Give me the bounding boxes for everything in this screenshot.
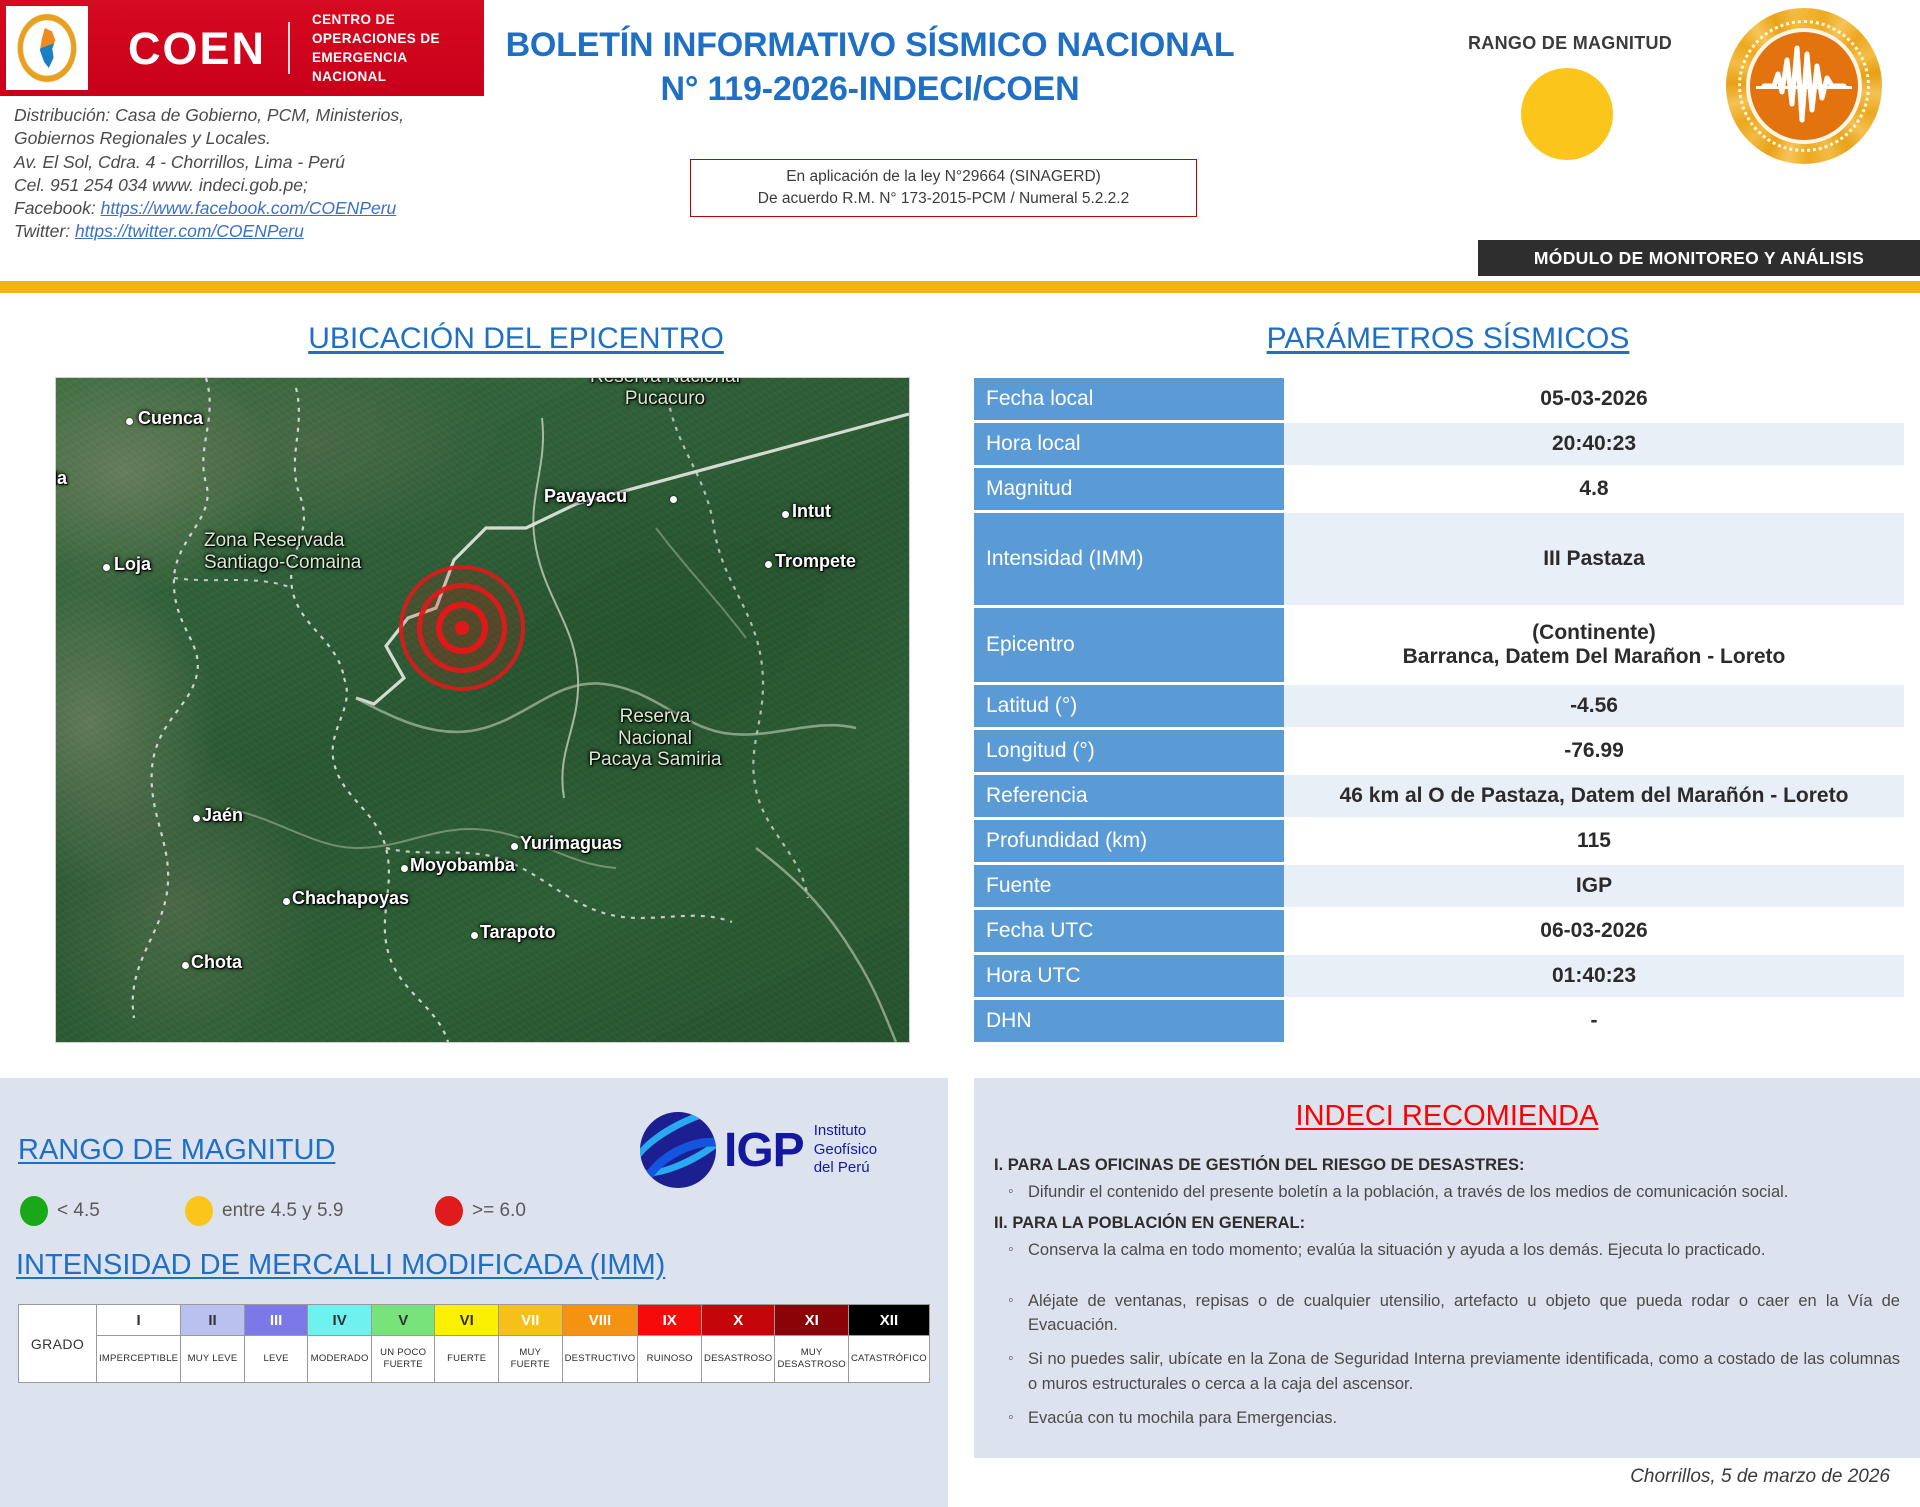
map-label-chachapoyas: Chachapoyas [292, 888, 409, 909]
map-label-trompeteros: Trompete [775, 551, 856, 572]
twitter-line: Twitter: https://twitter.com/COENPeru [14, 220, 484, 243]
mercalli-column-iii: III LEVE [245, 1305, 309, 1382]
header-magnitude-dot [1521, 68, 1613, 160]
param-key: Fecha UTC [974, 910, 1284, 952]
mercalli-name: MUY DESASTROSO [775, 1336, 847, 1382]
legal-notice-box: En aplicación de la ley N°29664 (SINAGER… [690, 159, 1197, 217]
distribution-block: Distribución: Casa de Gobierno, PCM, Min… [14, 104, 484, 244]
param-value: -4.56 [1284, 685, 1904, 727]
seismic-parameters-table: Fecha local 05-03-2026 Hora local 20:40:… [974, 378, 1904, 1045]
mercalli-name: UN POCO FUERTE [372, 1336, 435, 1382]
mercalli-roman: VIII [563, 1305, 638, 1336]
map-dot-tarapoto [471, 932, 478, 939]
table-row: Hora local 20:40:23 [974, 423, 1904, 465]
mercalli-column-ii: II MUY LEVE [181, 1305, 245, 1382]
coen-subtitle: CENTRO DE OPERACIONES DE EMERGENCIA NACI… [312, 10, 484, 87]
recommendations-title: INDECI RECOMIENDA [974, 1100, 1920, 1133]
param-key: Profundidad (km) [974, 820, 1284, 862]
mercalli-roman: V [372, 1305, 435, 1336]
mercalli-name: DESTRUCTIVO [563, 1336, 638, 1382]
list-item: Evacúa con tu mochila para Emergencias. [1028, 1406, 1900, 1431]
mercalli-name: MUY LEVE [181, 1336, 244, 1382]
map-label-zona-line-2: Santiago-Comaina [204, 552, 361, 573]
coen-subtitle-line-1: CENTRO DE [312, 10, 484, 29]
map-dot-jaen [193, 815, 200, 822]
map-label-tarapoto: Tarapoto [480, 922, 556, 943]
epicenter-marker[interactable] [402, 568, 522, 688]
map-dot-pavayacu [670, 496, 677, 503]
epicenter-section-title: UBICACIÓN DEL EPICENTRO [286, 322, 746, 356]
param-value: 06-03-2026 [1284, 910, 1904, 952]
map-dot-moyobamba [401, 865, 408, 872]
facebook-line: Facebook: https://www.facebook.com/COENP… [14, 197, 484, 220]
mercalli-column-i: I IMPERCEPTIBLE [97, 1305, 181, 1382]
param-value: -76.99 [1284, 730, 1904, 772]
map-label-chota: Chota [191, 952, 242, 973]
mercalli-roman: IX [638, 1305, 701, 1336]
mercalli-grade-column: GRADO [19, 1305, 97, 1382]
facebook-link[interactable]: https://www.facebook.com/COENPeru [101, 198, 397, 218]
param-value: 4.8 [1284, 468, 1904, 510]
badge-core [1746, 28, 1862, 144]
map-label-loja: Loja [114, 554, 151, 575]
page-title-line-2: N° 119-2026-INDECI/COEN [500, 68, 1240, 112]
map-label-pacaya-line-2: Nacional [618, 728, 692, 749]
igp-globe-icon [640, 1112, 716, 1188]
param-value: 20:40:23 [1284, 423, 1904, 465]
param-key: Epicentro [974, 608, 1284, 682]
map-label-pacaya-line-1: Reserva [620, 706, 691, 727]
table-row: Latitud (°) -4.56 [974, 685, 1904, 727]
mercalli-column-xii: XII CATASTRÓFICO [849, 1305, 929, 1382]
param-key: Hora local [974, 423, 1284, 465]
map-label-pacaya-samiria: Reserva Nacional Pacaya Samiria [540, 706, 770, 771]
legend-label-mid: entre 4.5 y 5.9 [222, 1200, 343, 1222]
distribution-line-4: Cel. 951 254 034 www. indeci.gob.pe; [14, 174, 484, 197]
mercalli-column-ix: IX RUINOSO [638, 1305, 702, 1382]
seismograph-badge-icon [1726, 8, 1882, 164]
legend-label-high: >= 6.0 [472, 1200, 526, 1222]
map-label-yurimaguas: Yurimaguas [520, 833, 622, 854]
igp-acronym: IGP [724, 1123, 804, 1178]
mercalli-roman: II [181, 1305, 244, 1336]
footer-place-date: Chorrillos, 5 de marzo de 2026 [1630, 1466, 1890, 1488]
mercalli-name: LEVE [245, 1336, 308, 1382]
param-key: Intensidad (IMM) [974, 513, 1284, 605]
magnitude-legend: < 4.5 entre 4.5 y 5.9 >= 6.0 [20, 1196, 580, 1240]
param-value: 05-03-2026 [1284, 378, 1904, 420]
epicenter-center-dot [455, 621, 469, 635]
mercalli-roman: VI [435, 1305, 498, 1336]
table-row: Magnitud 4.8 [974, 468, 1904, 510]
table-row: Epicentro (Continente) Barranca, Datem D… [974, 608, 1904, 682]
twitter-link[interactable]: https://twitter.com/COENPeru [75, 221, 304, 241]
table-row: Fuente IGP [974, 865, 1904, 907]
param-key: Fecha local [974, 378, 1284, 420]
map-dot-loja [103, 564, 110, 571]
param-value-line-1: (Continente) [1403, 621, 1786, 645]
indeci-seal-logo [6, 6, 88, 90]
map-label-moyobamba: Moyobamba [410, 855, 515, 876]
page-title-line-1: BOLETÍN INFORMATIVO SÍSMICO NACIONAL [500, 24, 1240, 68]
map-dot-trompeteros [765, 561, 772, 568]
mercalli-name: CATASTRÓFICO [849, 1336, 929, 1382]
legal-notice-line-1: En aplicación de la ley N°29664 (SINAGER… [786, 166, 1101, 188]
map-label-intuto: Intut [792, 501, 831, 522]
igp-subtitle-line-1: Instituto [814, 1122, 877, 1141]
param-value: 115 [1284, 820, 1904, 862]
table-row: Longitud (°) -76.99 [974, 730, 1904, 772]
mercalli-column-viii: VIII DESTRUCTIVO [563, 1305, 639, 1382]
param-value: 01:40:23 [1284, 955, 1904, 997]
mercalli-roman: XI [775, 1305, 847, 1336]
mercalli-column-v: V UN POCO FUERTE [372, 1305, 436, 1382]
param-value: - [1284, 1000, 1904, 1042]
mercalli-name: FUERTE [435, 1336, 498, 1382]
list-item: Difundir el contenido del presente bolet… [1028, 1180, 1900, 1205]
brand-divider [288, 22, 290, 74]
legend-item-low: < 4.5 [20, 1196, 100, 1226]
recommendations-group2-list: Conserva la calma en todo momento; evalú… [994, 1238, 1900, 1431]
map-label-pacaya-line-3: Pacaya Samiria [588, 749, 721, 770]
twitter-label: Twitter: [14, 221, 70, 241]
map-label-pucacuro: Reserva Nacional Pucacuro [550, 377, 780, 409]
coen-subtitle-line-3: EMERGENCIA NACIONAL [312, 48, 484, 86]
parameters-section-title: PARÁMETROS SÍSMICOS [1248, 322, 1648, 356]
page-header: COEN CENTRO DE OPERACIONES DE EMERGENCIA… [0, 0, 1920, 232]
coen-brand-band: COEN CENTRO DE OPERACIONES DE EMERGENCIA… [0, 0, 484, 96]
mercalli-name: MUY FUERTE [499, 1336, 562, 1382]
module-bar: MÓDULO DE MONITOREO Y ANÁLISIS [1478, 240, 1920, 276]
coen-subtitle-line-2: OPERACIONES DE [312, 29, 484, 48]
mercalli-name: DESASTROSO [702, 1336, 775, 1382]
mercalli-name: MODERADO [308, 1336, 371, 1382]
mercalli-scale-table: GRADO I IMPERCEPTIBLE II MUY LEVE III LE… [18, 1304, 930, 1383]
mercalli-grade-label: GRADO [31, 1336, 84, 1352]
mercalli-name: IMPERCEPTIBLE [97, 1336, 180, 1382]
igp-subtitle: Instituto Geofísico del Perú [814, 1122, 877, 1178]
map-dot-cuenca [126, 418, 133, 425]
badge-dotted-ring [1738, 20, 1870, 152]
coen-wordmark: COEN [128, 26, 266, 71]
mercalli-column-vii: VII MUY FUERTE [499, 1305, 563, 1382]
param-key: DHN [974, 1000, 1284, 1042]
map-dot-intuto [782, 511, 789, 518]
param-value: (Continente) Barranca, Datem Del Marañon… [1284, 608, 1904, 682]
param-value: IGP [1284, 865, 1904, 907]
mercalli-column-xi: XI MUY DESASTROSO [775, 1305, 848, 1382]
map-label-jaen: Jaén [202, 805, 243, 826]
map-label-pucacuro-line-1: Reserva Nacional [590, 377, 740, 387]
legend-dot-yellow-icon [185, 1196, 213, 1226]
peru-seal-icon [15, 11, 79, 85]
map-label-zona-reservada: Zona Reservada Santiago-Comaina [204, 530, 434, 573]
mercalli-name: RUINOSO [638, 1336, 701, 1382]
param-key: Fuente [974, 865, 1284, 907]
map-label-pucacuro-line-2: Pucacuro [625, 388, 705, 409]
page-title: BOLETÍN INFORMATIVO SÍSMICO NACIONAL N° … [500, 24, 1240, 111]
mercalli-roman: VII [499, 1305, 562, 1336]
legend-dot-red-icon [435, 1196, 463, 1226]
table-row: DHN - [974, 1000, 1904, 1042]
epicenter-map[interactable]: Cuenca la Loja Reserva Nacional Pucacuro… [55, 377, 910, 1043]
legend-dot-green-icon [20, 1196, 48, 1226]
map-label-la: la [55, 468, 67, 489]
param-key: Magnitud [974, 468, 1284, 510]
map-label-pavayacu: Pavayacu [544, 486, 627, 507]
distribution-line-3: Av. El Sol, Cdra. 4 - Chorrillos, Lima -… [14, 151, 484, 174]
recommendations-group2-heading: II. PARA LA POBLACIÓN EN GENERAL: [994, 1214, 1900, 1233]
mercalli-title: INTENSIDAD DE MERCALLI MODIFICADA (IMM) [16, 1249, 665, 1282]
mercalli-roman: XII [849, 1305, 929, 1336]
list-item: Conserva la calma en todo momento; evalú… [1028, 1238, 1900, 1263]
igp-logo: IGP Instituto Geofísico del Perú [640, 1100, 930, 1200]
param-key: Latitud (°) [974, 685, 1284, 727]
mercalli-column-x: X DESASTROSO [702, 1305, 776, 1382]
igp-subtitle-line-3: del Perú [814, 1159, 877, 1178]
legal-notice-line-2: De acuerdo R.M. N° 173-2015-PCM / Numera… [758, 188, 1129, 210]
table-row: Intensidad (IMM) III Pastaza [974, 513, 1904, 605]
distribution-line-2: Gobiernos Regionales y Locales. [14, 127, 484, 150]
table-row: Fecha UTC 06-03-2026 [974, 910, 1904, 952]
gold-divider [0, 281, 1920, 293]
map-label-zona-line-1: Zona Reservada [204, 530, 344, 551]
mercalli-roman: X [702, 1305, 775, 1336]
facebook-label: Facebook: [14, 198, 96, 218]
map-label-cuenca: Cuenca [138, 408, 203, 429]
map-dot-yurimaguas [511, 843, 518, 850]
legend-label-low: < 4.5 [57, 1200, 100, 1222]
recommendations-group1-list: Difundir el contenido del presente bolet… [994, 1180, 1900, 1205]
magnitude-and-mercalli-panel: RANGO DE MAGNITUD < 4.5 entre 4.5 y 5.9 … [0, 1078, 948, 1507]
param-key: Referencia [974, 775, 1284, 817]
magnitude-range-title: RANGO DE MAGNITUD [18, 1134, 335, 1167]
legend-item-high: >= 6.0 [435, 1196, 526, 1226]
seismic-wave-icon [1758, 40, 1850, 132]
mercalli-column-vi: VI FUERTE [435, 1305, 499, 1382]
param-value: 46 km al O de Pastaza, Datem del Marañón… [1284, 775, 1904, 817]
param-value-line-2: Barranca, Datem Del Marañon - Loreto [1403, 645, 1786, 669]
table-row: Fecha local 05-03-2026 [974, 378, 1904, 420]
recommendations-body: I. PARA LAS OFICINAS DE GESTIÓN DEL RIES… [994, 1156, 1900, 1439]
map-dot-chota [182, 962, 189, 969]
param-key: Longitud (°) [974, 730, 1284, 772]
mercalli-column-iv: IV MODERADO [308, 1305, 372, 1382]
header-magnitude-range-label: RANGO DE MAGNITUD [1468, 33, 1672, 54]
recommendations-panel: INDECI RECOMIENDA I. PARA LAS OFICINAS D… [974, 1078, 1920, 1458]
list-item: Aléjate de ventanas, repisas o de cualqu… [1028, 1289, 1900, 1339]
param-key: Hora UTC [974, 955, 1284, 997]
table-row: Referencia 46 km al O de Pastaza, Datem … [974, 775, 1904, 817]
legend-item-mid: entre 4.5 y 5.9 [185, 1196, 343, 1226]
mercalli-roman: III [245, 1305, 308, 1336]
mercalli-roman: IV [308, 1305, 371, 1336]
distribution-line-1: Distribución: Casa de Gobierno, PCM, Min… [14, 104, 484, 127]
list-item: Si no puedes salir, ubícate en la Zona d… [1028, 1347, 1900, 1397]
param-value: III Pastaza [1284, 513, 1904, 605]
recommendations-group1-heading: I. PARA LAS OFICINAS DE GESTIÓN DEL RIES… [994, 1156, 1900, 1175]
mercalli-roman: I [97, 1305, 180, 1336]
map-dot-chachapoyas [283, 898, 290, 905]
table-row: Profundidad (km) 115 [974, 820, 1904, 862]
igp-subtitle-line-2: Geofísico [814, 1141, 877, 1160]
table-row: Hora UTC 01:40:23 [974, 955, 1904, 997]
